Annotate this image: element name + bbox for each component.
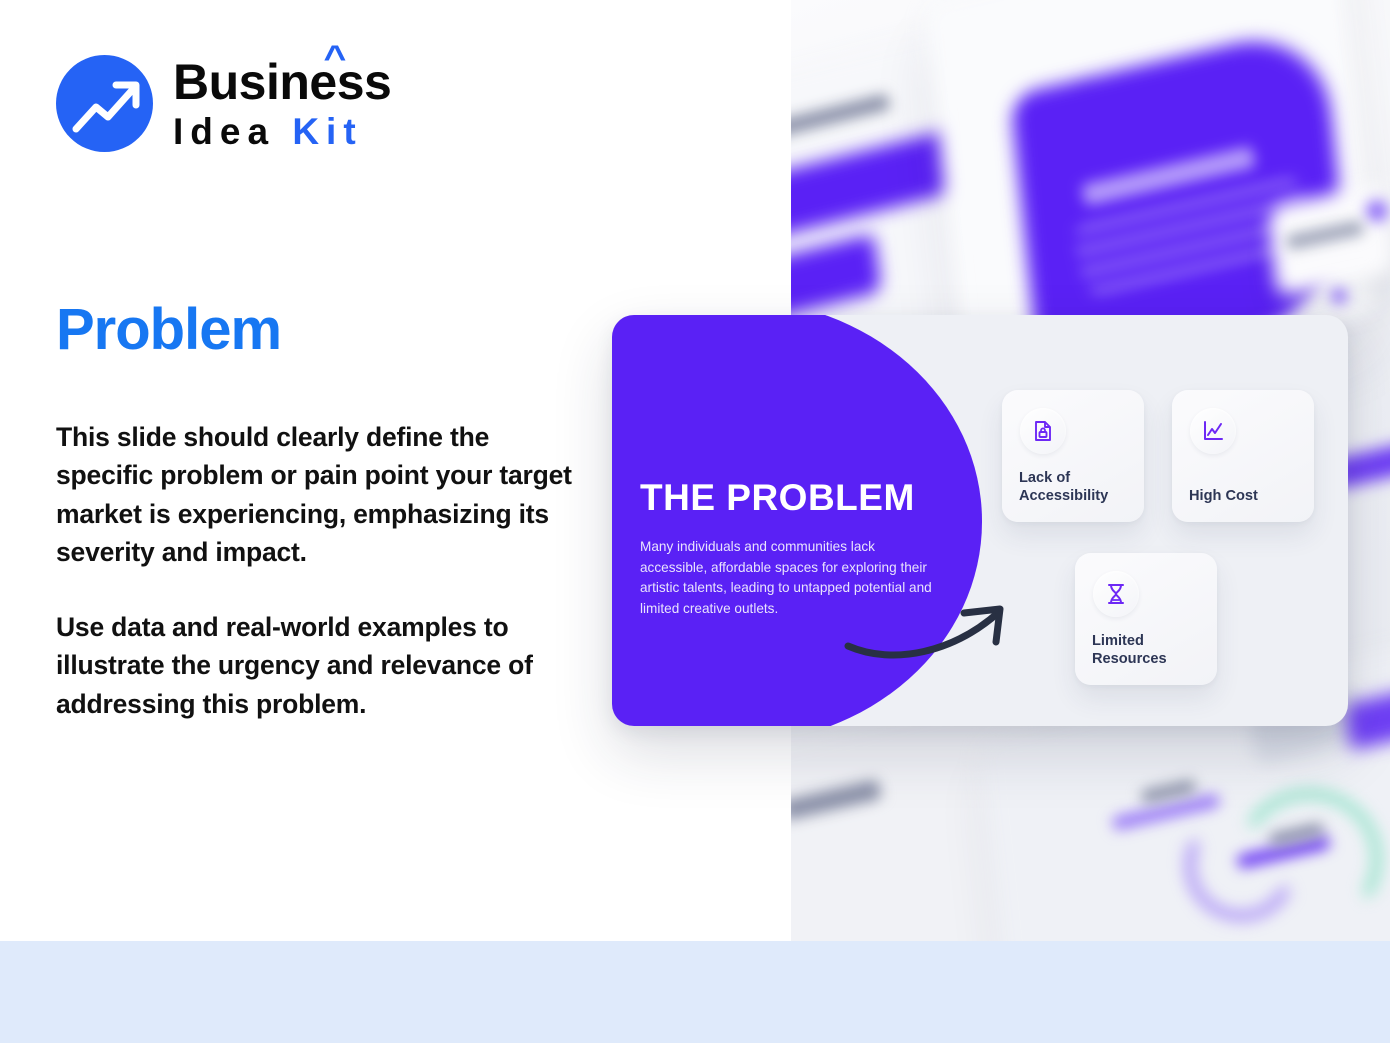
curved-arrow-icon (842, 590, 1022, 665)
brand-logo: Business ^ Idea Kit (56, 55, 391, 152)
brand-circumflex-accent: ^ (324, 41, 346, 75)
page-title: Problem (56, 296, 281, 363)
brand-name-top: Business ^ (173, 57, 391, 107)
bottom-accent-strip (0, 941, 1390, 1043)
description-paragraph-1: This slide should clearly define the spe… (56, 418, 576, 572)
trending-up-arrow-icon (56, 55, 153, 152)
problem-tile-label: Lack of Accessibility (1019, 470, 1134, 506)
mock-dot (1366, 200, 1388, 222)
brand-name-top-text: Business (173, 54, 391, 110)
brand-name-kit: Kit (292, 111, 362, 152)
problem-tile-label: Limited Resources (1092, 633, 1207, 669)
hourglass-icon (1093, 571, 1139, 617)
slide-title: THE PROBLEM (640, 477, 915, 519)
mock-dot (1331, 288, 1347, 304)
brand-name-bottom: Idea Kit (173, 113, 391, 150)
document-lock-icon (1020, 408, 1066, 454)
line-chart-icon (1190, 408, 1236, 454)
brand-name-idea: Idea (173, 111, 292, 152)
problem-tile-label: High Cost (1189, 488, 1304, 506)
problem-tile-lack-of-accessibility[interactable]: Lack of Accessibility (1002, 390, 1144, 522)
description-block: This slide should clearly define the spe… (56, 418, 576, 723)
description-paragraph-2: Use data and real-world examples to illu… (56, 608, 576, 723)
problem-slide-preview[interactable]: THE PROBLEM Many individuals and communi… (612, 315, 1348, 726)
problem-tile-high-cost[interactable]: High Cost (1172, 390, 1314, 522)
problem-tile-limited-resources[interactable]: Limited Resources (1075, 553, 1217, 685)
